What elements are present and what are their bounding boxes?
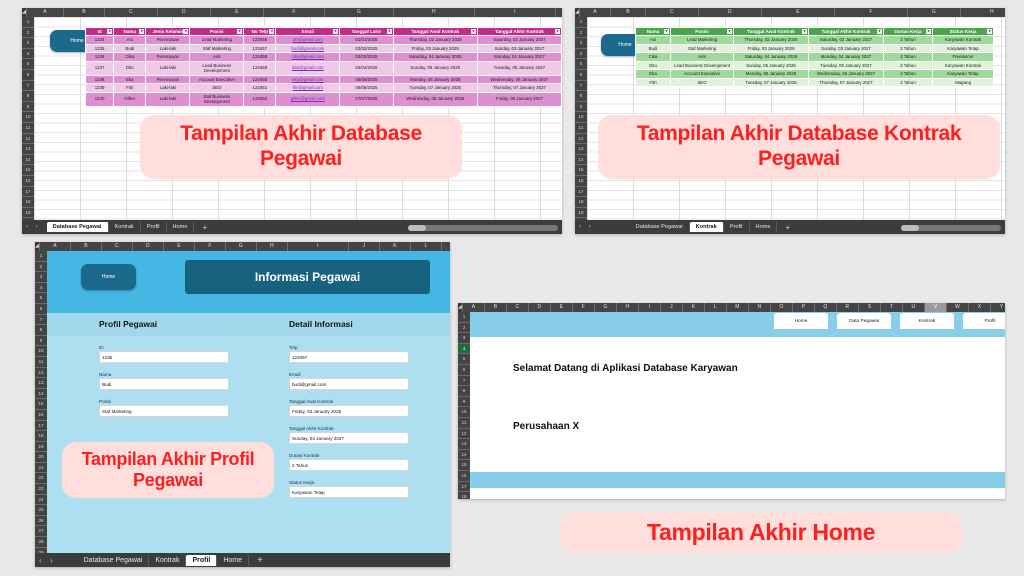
caption-database-pegawai: Tampilan Akhir Database Pegawai bbox=[140, 115, 462, 179]
column-nama: Nama▾ bbox=[114, 28, 146, 36]
filter-dropdown-icon[interactable]: ▾ bbox=[387, 29, 392, 34]
row-header-13[interactable]: 13 bbox=[575, 144, 587, 155]
sheet-tab-bar: ‹ › Database Pegawai Kontrak Profil Home… bbox=[575, 220, 1005, 234]
row-header-3[interactable]: 3 bbox=[35, 272, 47, 283]
table-row: DitoLead Business DevelopmentSunday, 05 … bbox=[636, 61, 994, 70]
column-header-g[interactable]: G bbox=[595, 303, 617, 312]
column-header-c[interactable]: C bbox=[105, 8, 158, 17]
field-label: Tanggal Awal Kontrak bbox=[289, 399, 409, 404]
home-navigation-button[interactable]: Home bbox=[81, 264, 136, 290]
row-header-18[interactable]: 18 bbox=[458, 492, 470, 499]
row-header-3[interactable]: 3 bbox=[458, 333, 470, 344]
cell-nama: Eka bbox=[114, 75, 146, 84]
add-sheet-icon[interactable]: + bbox=[777, 223, 798, 232]
column-header-g[interactable]: G bbox=[325, 8, 394, 17]
row-header-4[interactable]: 4 bbox=[22, 49, 34, 60]
cell-nama: Budi bbox=[636, 44, 671, 53]
row-header-4[interactable]: 4 bbox=[35, 283, 47, 294]
row-header-26[interactable]: 26 bbox=[35, 516, 47, 527]
home-nav-button-profil[interactable]: Profil bbox=[963, 313, 1005, 329]
cell-akhir: Sunday, 03 January 2027 bbox=[809, 44, 884, 53]
cell-status: Karyawan Kontrak bbox=[933, 36, 994, 45]
cell-awal: Friday, 03 January 2025 bbox=[734, 44, 809, 53]
sheet-tab-kontrak[interactable]: Kontrak bbox=[149, 555, 186, 566]
row-header-16[interactable]: 16 bbox=[35, 410, 47, 421]
cell-nama: Ani bbox=[636, 36, 671, 45]
sheet-nav-arrows-icon[interactable]: ‹ › bbox=[579, 224, 594, 230]
field-label: Status Kerja bbox=[289, 480, 409, 485]
horizontal-scrollbar[interactable] bbox=[901, 225, 1001, 231]
column-header-e[interactable]: E bbox=[211, 8, 264, 17]
filter-dropdown-icon[interactable]: ▾ bbox=[877, 29, 882, 34]
cell-akhir: Wednesday, 06 January 2027 bbox=[809, 70, 884, 79]
cell-nama: Cika bbox=[636, 53, 671, 62]
row-header-12[interactable]: 12 bbox=[575, 134, 587, 145]
column-nama: Nama▾ bbox=[636, 28, 671, 36]
column-header-row: ◢ ABCDEFGHIJKLMNOPQRSTUVWXY bbox=[458, 303, 1005, 312]
filter-dropdown-icon[interactable]: ▾ bbox=[727, 29, 732, 34]
column-header-b[interactable]: B bbox=[611, 8, 646, 17]
row-header-1[interactable]: 1 bbox=[458, 312, 470, 323]
row-header-3[interactable]: 3 bbox=[575, 38, 587, 49]
caption-profil-pegawai: Tampilan Akhir Profil Pegawai bbox=[62, 442, 274, 498]
field-label: Tanggal Akhir Kontrak bbox=[289, 426, 409, 431]
cell-jk: Perempuan bbox=[146, 36, 190, 45]
row-header-9[interactable]: 9 bbox=[458, 397, 470, 408]
column-posisi: Posisi▾ bbox=[190, 28, 244, 36]
row-header-11[interactable]: 11 bbox=[575, 123, 587, 134]
row-header-18[interactable]: 18 bbox=[22, 197, 34, 208]
sheet-tab-profil[interactable]: Profil bbox=[186, 555, 217, 566]
column-header-n[interactable]: N bbox=[749, 303, 771, 312]
filter-dropdown-icon[interactable]: ▾ bbox=[664, 29, 669, 34]
row-header-6[interactable]: 6 bbox=[458, 365, 470, 376]
filter-dropdown-icon[interactable]: ▾ bbox=[107, 29, 112, 34]
add-sheet-icon[interactable]: + bbox=[249, 555, 271, 566]
kontrak-table: Nama▾Posisi▾Tanggal Awal Kontrak▾Tanggal… bbox=[635, 27, 994, 87]
column-header-f[interactable]: F bbox=[835, 8, 908, 17]
column-header-i[interactable]: I bbox=[475, 8, 556, 17]
cell-awal: Saturday, 04 January 2025 bbox=[734, 53, 809, 62]
column-header-b[interactable]: B bbox=[71, 242, 102, 251]
column-header-g[interactable]: G bbox=[226, 242, 257, 251]
row-header-11[interactable]: 11 bbox=[22, 123, 34, 134]
filter-dropdown-icon[interactable]: ▾ bbox=[555, 29, 560, 34]
column-header-a[interactable]: A bbox=[580, 8, 611, 17]
row-header-10[interactable]: 10 bbox=[458, 407, 470, 418]
sheet-tab-profil[interactable]: Profil bbox=[724, 222, 750, 232]
cell-id: 1235 bbox=[86, 44, 114, 53]
cell-durasi: 2 Tahun bbox=[884, 61, 933, 70]
cell-lahir: 02/02/2025 bbox=[340, 44, 394, 53]
column-header-a[interactable]: A bbox=[463, 303, 485, 312]
row-header-2[interactable]: 2 bbox=[22, 28, 34, 39]
row-header-15[interactable]: 15 bbox=[575, 165, 587, 176]
cell-akhir: Saturday, 02 January 2027 bbox=[809, 36, 884, 45]
profil-right-field-group: Telp123457Emailbudi@gmail.comTanggal Awa… bbox=[289, 345, 409, 507]
row-header-3[interactable]: 3 bbox=[22, 38, 34, 49]
row-header-17[interactable]: 17 bbox=[22, 187, 34, 198]
row-header-5[interactable]: 5 bbox=[458, 354, 470, 365]
row-header-10[interactable]: 10 bbox=[22, 112, 34, 123]
column-header-j[interactable]: J bbox=[556, 8, 562, 17]
form-field-posisi: PosisiStaf Marketing bbox=[99, 399, 229, 417]
cell-lahir: 06/06/2025 bbox=[340, 84, 394, 93]
column-header-d[interactable]: D bbox=[529, 303, 551, 312]
row-header-6[interactable]: 6 bbox=[22, 70, 34, 81]
kontrak-table-body: AniLead MarketingThursday, 02 January 20… bbox=[636, 36, 994, 87]
profil-left-heading: Profil Pegawai bbox=[99, 319, 157, 329]
home-nav-button-home[interactable]: Home bbox=[774, 313, 828, 329]
filter-dropdown-icon[interactable]: ▾ bbox=[926, 29, 931, 34]
form-field-telp: Telp123457 bbox=[289, 345, 409, 363]
column-header-c[interactable]: C bbox=[102, 242, 133, 251]
cell-lahir: 04/04/2025 bbox=[340, 61, 394, 75]
pegawai-table: Id▾Nama▾Jenis Kelamin▾Posisi▾No Telp▾Ema… bbox=[85, 27, 562, 107]
cell-akhir: Tuesday, 05 January 2027 bbox=[477, 61, 561, 75]
row-header-14[interactable]: 14 bbox=[35, 389, 47, 400]
row-header-17[interactable]: 17 bbox=[458, 482, 470, 493]
column-jenis-kelamin: Jenis Kelamin▾ bbox=[146, 28, 190, 36]
column-tanggal-lahir: Tanggal Lahir▾ bbox=[340, 28, 394, 36]
add-sheet-icon[interactable]: + bbox=[194, 223, 215, 232]
row-header-16[interactable]: 16 bbox=[458, 471, 470, 482]
sheet-tab-kontrak[interactable]: Kontrak bbox=[690, 222, 724, 232]
row-header-20[interactable]: 20 bbox=[35, 452, 47, 463]
row-header-1[interactable]: 1 bbox=[35, 251, 47, 262]
field-value-input[interactable]: Karyawan Tetap bbox=[289, 486, 409, 498]
row-header-25[interactable]: 25 bbox=[35, 505, 47, 516]
cell-telp: 123458 bbox=[244, 53, 276, 62]
column-header-u[interactable]: U bbox=[903, 303, 925, 312]
row-header-4[interactable]: 4 bbox=[458, 344, 470, 355]
row-header-15[interactable]: 15 bbox=[35, 399, 47, 410]
column-header-a[interactable]: A bbox=[27, 8, 64, 17]
cell-akhir: Sunday, 03 January 2027 bbox=[477, 44, 561, 53]
column-header-j[interactable]: J bbox=[661, 303, 683, 312]
row-header-9[interactable]: 9 bbox=[575, 102, 587, 113]
row-header-13[interactable]: 13 bbox=[22, 144, 34, 155]
cell-id: 1236 bbox=[86, 53, 114, 62]
row-header-8[interactable]: 8 bbox=[35, 325, 47, 336]
column-header-p[interactable]: P bbox=[793, 303, 815, 312]
row-header-19[interactable]: 19 bbox=[35, 442, 47, 453]
cell-nama: Dito bbox=[636, 61, 671, 70]
column-header-r[interactable]: R bbox=[837, 303, 859, 312]
row-header-8[interactable]: 8 bbox=[575, 91, 587, 102]
profil-left-field-group: ID1235NamaBudiPosisiStaf Marketing bbox=[99, 345, 229, 426]
row-header-16[interactable]: 16 bbox=[575, 176, 587, 187]
row-header-18[interactable]: 18 bbox=[35, 431, 47, 442]
caption-home: Tampilan Akhir Home bbox=[560, 512, 962, 553]
column-header-f[interactable]: F bbox=[573, 303, 595, 312]
column-header-c[interactable]: C bbox=[507, 303, 529, 312]
cell-jk: Perempuan bbox=[146, 75, 190, 84]
filter-dropdown-icon[interactable]: ▾ bbox=[269, 29, 274, 34]
column-header-d[interactable]: D bbox=[133, 242, 164, 251]
row-header-1[interactable]: 1 bbox=[22, 17, 34, 28]
cell-jk: Laki-laki bbox=[146, 44, 190, 53]
column-header-f[interactable]: F bbox=[195, 242, 226, 251]
cell-lahir: 03/03/2025 bbox=[340, 53, 394, 62]
filter-dropdown-icon[interactable]: ▾ bbox=[802, 29, 807, 34]
form-field-tanggal-awal-kontrak: Tanggal Awal KontrakFriday, 03 January 2… bbox=[289, 399, 409, 417]
column-durasi-kerja: Durasi Kerja▾ bbox=[884, 28, 933, 36]
cell-akhir: Friday, 08 January 2027 bbox=[477, 92, 561, 106]
row-header-5[interactable]: 5 bbox=[35, 293, 47, 304]
filter-dropdown-icon[interactable]: ▾ bbox=[333, 29, 338, 34]
cell-email: ani@gmail.com bbox=[276, 36, 340, 45]
column-header-f[interactable]: F bbox=[264, 8, 325, 17]
column-header-o[interactable]: O bbox=[771, 303, 793, 312]
row-header-5[interactable]: 5 bbox=[22, 59, 34, 70]
cell-id: 1237 bbox=[86, 61, 114, 75]
column-header-s[interactable]: S bbox=[859, 303, 881, 312]
column-header-h[interactable]: H bbox=[617, 303, 639, 312]
row-header-13[interactable]: 13 bbox=[458, 439, 470, 450]
column-header-l[interactable]: L bbox=[411, 242, 442, 251]
form-field-status-kerja: Status KerjaKaryawan Tetap bbox=[289, 480, 409, 498]
cell-email: fitri@gmail.com bbox=[276, 84, 340, 93]
sheet-tab-home[interactable]: Home bbox=[217, 555, 249, 566]
cell-status: Freelancer bbox=[933, 53, 994, 62]
row-header-13[interactable]: 13 bbox=[35, 378, 47, 389]
row-header-11[interactable]: 11 bbox=[35, 357, 47, 368]
cell-lahir: 07/07/2025 bbox=[340, 92, 394, 106]
row-header-10[interactable]: 10 bbox=[35, 346, 47, 357]
cell-status: Magang bbox=[933, 78, 994, 87]
filter-dropdown-icon[interactable]: ▾ bbox=[237, 29, 242, 34]
cell-telp: 123457 bbox=[244, 44, 276, 53]
column-header-e[interactable]: E bbox=[164, 242, 195, 251]
column-header-e[interactable]: E bbox=[762, 8, 835, 17]
home-nav-button-data-pegawai[interactable]: Data Pegawai bbox=[837, 313, 891, 329]
field-value-input[interactable]: Budi bbox=[99, 378, 229, 390]
field-value-input[interactable]: 123457 bbox=[289, 351, 409, 363]
row-header-12[interactable]: 12 bbox=[35, 368, 47, 379]
cell-telp: 123456 bbox=[244, 36, 276, 45]
column-header-j[interactable]: J bbox=[349, 242, 380, 251]
row-header-17[interactable]: 17 bbox=[575, 187, 587, 198]
row-header-21[interactable]: 21 bbox=[35, 463, 47, 474]
row-header-12[interactable]: 12 bbox=[458, 429, 470, 440]
row-header-27[interactable]: 27 bbox=[35, 526, 47, 537]
field-label: Telp bbox=[289, 345, 409, 350]
column-header-m[interactable]: M bbox=[442, 242, 450, 251]
sheet-tab-profil[interactable]: Profil bbox=[141, 222, 167, 232]
row-header-28[interactable]: 28 bbox=[35, 537, 47, 548]
home-content-area bbox=[470, 337, 1005, 472]
row-header-19[interactable]: 19 bbox=[575, 208, 587, 219]
sheet-nav-arrows-icon[interactable]: ‹ › bbox=[26, 224, 41, 230]
cell-nama: Ani bbox=[114, 36, 146, 45]
cell-awal: Friday, 03 January 2025 bbox=[393, 44, 477, 53]
column-header-k[interactable]: K bbox=[380, 242, 411, 251]
row-header-strip: 12345678910111213141516171819202122 bbox=[22, 17, 34, 234]
filter-dropdown-icon[interactable]: ▾ bbox=[183, 29, 188, 34]
home-bottom-band bbox=[470, 472, 1005, 488]
row-header-16[interactable]: 16 bbox=[22, 176, 34, 187]
cell-posisi: Account Executive bbox=[190, 75, 244, 84]
row-header-9[interactable]: 9 bbox=[22, 102, 34, 113]
column-header-m[interactable]: M bbox=[727, 303, 749, 312]
sheet-tab-kontrak[interactable]: Kontrak bbox=[109, 222, 141, 232]
row-header-14[interactable]: 14 bbox=[22, 155, 34, 166]
column-header-k[interactable]: K bbox=[683, 303, 705, 312]
column-header-g[interactable]: G bbox=[908, 8, 961, 17]
cell-akhir: Monday, 04 January 2027 bbox=[477, 53, 561, 62]
sheet-tab-bar: ‹ › Database Pegawai Kontrak Profil Home… bbox=[35, 553, 450, 567]
field-value-input[interactable]: budi@gmail.com bbox=[289, 378, 409, 390]
cell-akhir: Tuesday, 05 January 2027 bbox=[809, 61, 884, 70]
column-header-c[interactable]: C bbox=[646, 8, 699, 17]
cell-status: Karyawan Kontrak bbox=[933, 61, 994, 70]
cell-lahir: 05/05/2025 bbox=[340, 75, 394, 84]
column-header-a[interactable]: A bbox=[40, 242, 71, 251]
row-header-19[interactable]: 19 bbox=[22, 208, 34, 219]
row-header-14[interactable]: 14 bbox=[458, 450, 470, 461]
row-header-8[interactable]: 8 bbox=[22, 91, 34, 102]
column-header-y[interactable]: Y bbox=[991, 303, 1005, 312]
cell-telp: 123462 bbox=[244, 92, 276, 106]
form-field-tanggal-akhir-kontrak: Tanggal Akhir KontrakSunday, 03 January … bbox=[289, 426, 409, 444]
row-header-23[interactable]: 23 bbox=[35, 484, 47, 495]
column-header-b[interactable]: B bbox=[64, 8, 105, 17]
sheet-tab-database-pegawai[interactable]: Database Pegawai bbox=[630, 222, 690, 232]
cell-durasi: 2 Tahun bbox=[884, 78, 933, 87]
column-header-b[interactable]: B bbox=[485, 303, 507, 312]
row-header-11[interactable]: 11 bbox=[458, 418, 470, 429]
cell-awal: Sunday, 05 January 2025 bbox=[734, 61, 809, 70]
row-header-strip: 12345678910111213141516171819202122 bbox=[575, 17, 587, 234]
column-id: Id▾ bbox=[86, 28, 114, 36]
profil-right-heading: Detail Informasi bbox=[289, 319, 353, 329]
row-header-8[interactable]: 8 bbox=[458, 386, 470, 397]
column-header-e[interactable]: E bbox=[551, 303, 573, 312]
home-welcome-line-2: Perusahaan X bbox=[513, 421, 579, 432]
horizontal-scrollbar[interactable] bbox=[408, 225, 558, 231]
row-header-2[interactable]: 2 bbox=[35, 262, 47, 273]
row-header-7[interactable]: 7 bbox=[458, 376, 470, 387]
field-value-input[interactable]: Sunday, 03 January 2027 bbox=[289, 432, 409, 444]
filter-dropdown-icon[interactable]: ▾ bbox=[139, 29, 144, 34]
row-header-6[interactable]: 6 bbox=[35, 304, 47, 315]
column-header-i[interactable]: I bbox=[288, 242, 349, 251]
table-row: 1235BudiLaki-lakiStaf Marketing123457bud… bbox=[86, 44, 562, 53]
form-field-id: ID1235 bbox=[99, 345, 229, 363]
row-header-18[interactable]: 18 bbox=[575, 197, 587, 208]
column-header-d[interactable]: D bbox=[699, 8, 762, 17]
cell-posisi: Ads bbox=[190, 53, 244, 62]
cell-email: eka@gmail.com bbox=[276, 75, 340, 84]
cell-awal: Sunday, 05 January 2025 bbox=[393, 61, 477, 75]
row-header-12[interactable]: 12 bbox=[22, 134, 34, 145]
column-header-x[interactable]: X bbox=[969, 303, 991, 312]
field-label: Posisi bbox=[99, 399, 229, 404]
home-welcome-line-1: Selamat Datang di Aplikasi Database Kary… bbox=[513, 363, 738, 374]
row-header-4[interactable]: 4 bbox=[575, 49, 587, 60]
row-header-6[interactable]: 6 bbox=[575, 70, 587, 81]
row-header-9[interactable]: 9 bbox=[35, 336, 47, 347]
column-header-h[interactable]: H bbox=[394, 8, 475, 17]
field-value-input[interactable]: 2 Tahun bbox=[289, 459, 409, 471]
column-header-d[interactable]: D bbox=[158, 8, 211, 17]
cell-akhir: Wednesday, 06 January 2027 bbox=[477, 75, 561, 84]
column-header-t[interactable]: T bbox=[881, 303, 903, 312]
profil-section-heading-band: Profil Pegawai Detail Informasi bbox=[47, 313, 450, 336]
cell-posisi: Staf Marketing bbox=[671, 44, 734, 53]
row-header-15[interactable]: 15 bbox=[22, 165, 34, 176]
cell-jk: Laki-laki bbox=[146, 92, 190, 106]
field-label: Durasi Kontrak bbox=[289, 453, 409, 458]
form-field-email: Emailbudi@gmail.com bbox=[289, 372, 409, 390]
table-row: BudiStaf MarketingFriday, 03 January 202… bbox=[636, 44, 994, 53]
column-header-q[interactable]: Q bbox=[815, 303, 837, 312]
column-header-row: ◢ ABCDEFGHIJKL bbox=[22, 8, 562, 17]
row-header-17[interactable]: 17 bbox=[35, 421, 47, 432]
row-header-10[interactable]: 10 bbox=[575, 112, 587, 123]
caption-database-kontrak: Tampilan Akhir Database Kontrak Pegawai bbox=[598, 115, 1000, 179]
row-header-2[interactable]: 2 bbox=[575, 28, 587, 39]
column-header-l[interactable]: L bbox=[705, 303, 727, 312]
cell-jk: Laki-laki bbox=[146, 61, 190, 75]
row-header-22[interactable]: 22 bbox=[35, 473, 47, 484]
row-header-15[interactable]: 15 bbox=[458, 460, 470, 471]
column-header-row: ◢ ABCDEFGHIJ bbox=[575, 8, 1005, 17]
column-header-v[interactable]: V bbox=[925, 303, 947, 312]
home-nav-button-group: HomeData PegawaiKontrakProfil bbox=[774, 313, 1005, 329]
cell-telp: 123461 bbox=[244, 84, 276, 93]
row-header-7[interactable]: 7 bbox=[22, 81, 34, 92]
sheet-tab-home[interactable]: Home bbox=[167, 222, 195, 232]
column-header-w[interactable]: W bbox=[947, 303, 969, 312]
cell-telp: 123460 bbox=[244, 75, 276, 84]
column-header-h[interactable]: H bbox=[257, 242, 288, 251]
cell-posisi: SEO bbox=[190, 84, 244, 93]
cell-nama: Eka bbox=[636, 70, 671, 79]
profil-title-banner: Informasi Pegawai bbox=[185, 260, 430, 294]
row-header-14[interactable]: 14 bbox=[575, 155, 587, 166]
column-header-i[interactable]: I bbox=[639, 303, 661, 312]
row-header-24[interactable]: 24 bbox=[35, 495, 47, 506]
sheet-tab-database-pegawai[interactable]: Database Pegawai bbox=[78, 555, 150, 566]
field-value-input[interactable]: 1235 bbox=[99, 351, 229, 363]
filter-dropdown-icon[interactable]: ▾ bbox=[471, 29, 476, 34]
row-header-5[interactable]: 5 bbox=[575, 59, 587, 70]
field-value-input[interactable]: Friday, 03 January 2025 bbox=[289, 405, 409, 417]
sheet-nav-arrows-icon[interactable]: ‹ › bbox=[39, 556, 56, 565]
table-header-row: Nama▾Posisi▾Tanggal Awal Kontrak▾Tanggal… bbox=[636, 28, 994, 36]
row-header-strip: 1234567891011121314151617181920 bbox=[458, 312, 470, 499]
field-value-input[interactable]: Staf Marketing bbox=[99, 405, 229, 417]
row-header-2[interactable]: 2 bbox=[458, 323, 470, 334]
column-header-h[interactable]: H bbox=[961, 8, 1005, 17]
cell-email: dito@gmail.com bbox=[276, 61, 340, 75]
cell-awal: Thursday, 02 January 2025 bbox=[734, 36, 809, 45]
row-header-1[interactable]: 1 bbox=[575, 17, 587, 28]
sheet-tab-database-pegawai[interactable]: Database Pegawai bbox=[47, 222, 109, 232]
row-header-7[interactable]: 7 bbox=[35, 315, 47, 326]
table-row: CikaAdsSaturday, 04 January 2025Monday, … bbox=[636, 53, 994, 62]
field-label: Nama bbox=[99, 372, 229, 377]
form-field-nama: NamaBudi bbox=[99, 372, 229, 390]
row-header-7[interactable]: 7 bbox=[575, 81, 587, 92]
cell-id: 1234 bbox=[86, 36, 114, 45]
filter-dropdown-icon[interactable]: ▾ bbox=[987, 29, 992, 34]
cell-nama: Fitri bbox=[114, 84, 146, 93]
sheet-tab-home[interactable]: Home bbox=[750, 222, 778, 232]
home-nav-button-kontrak[interactable]: Kontrak bbox=[900, 313, 954, 329]
